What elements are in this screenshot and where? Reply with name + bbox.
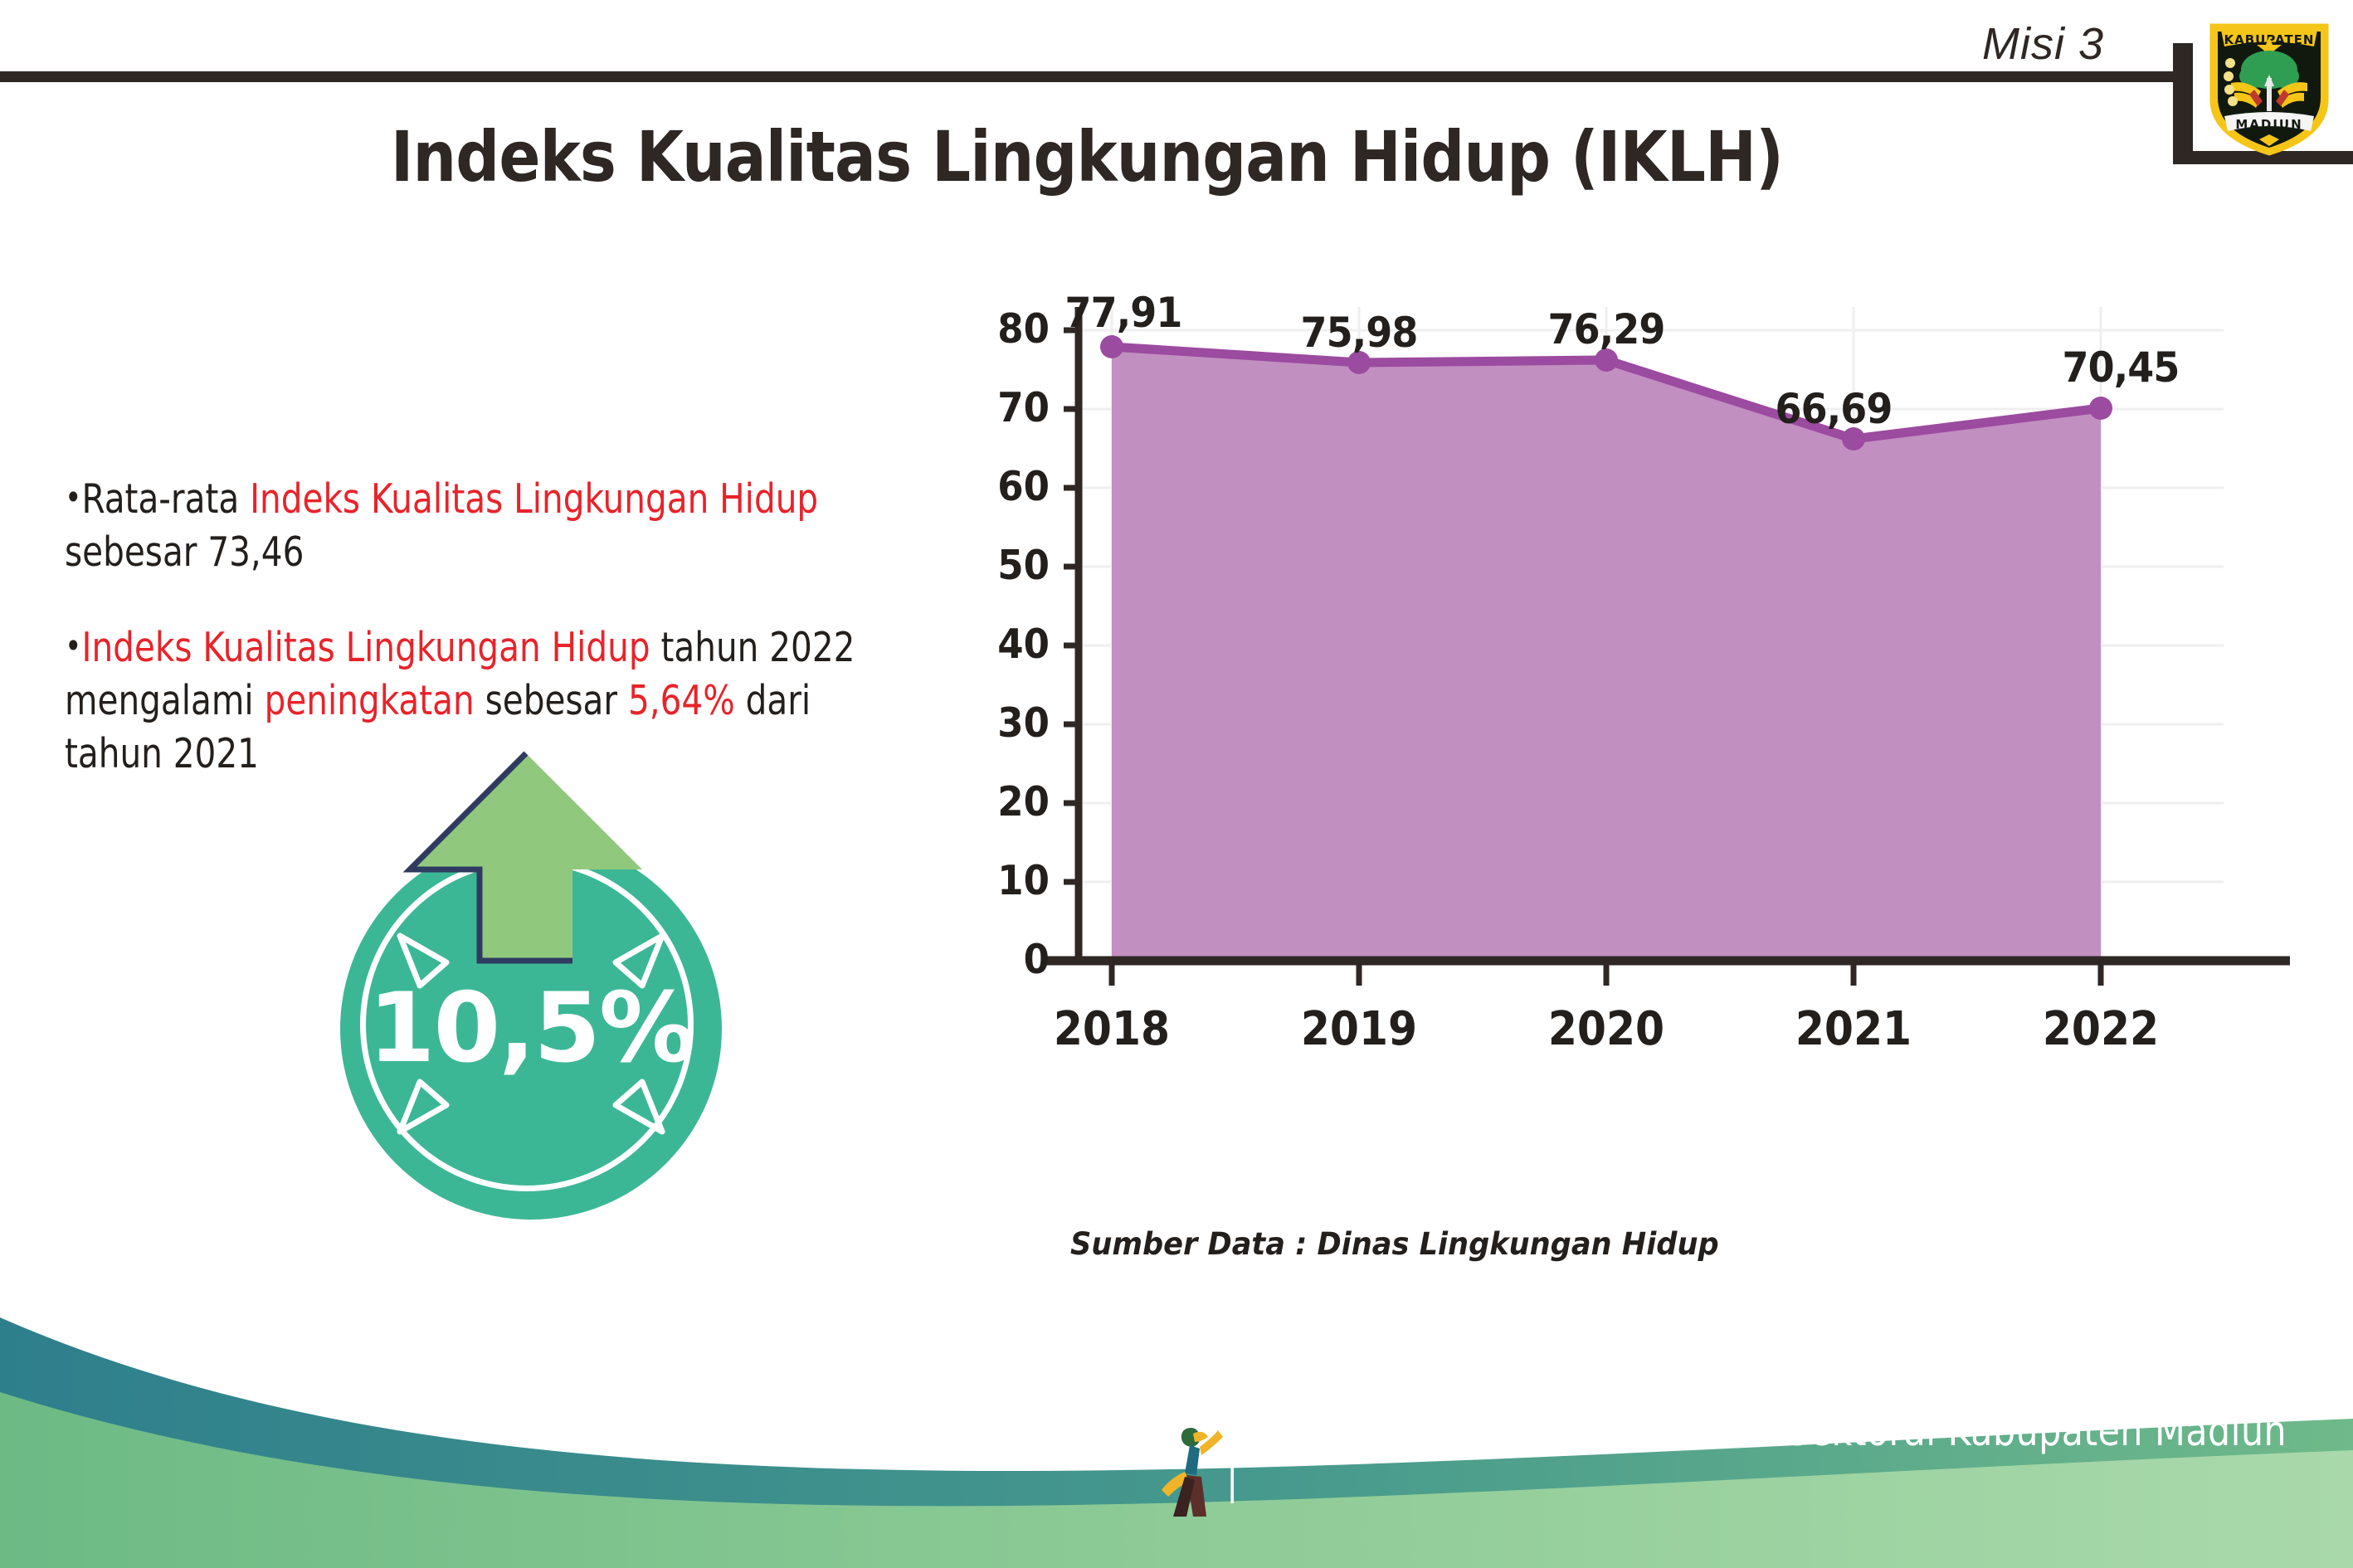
y-tick-label-70: 70 bbox=[958, 384, 1050, 431]
growth-badge: 10,5% bbox=[330, 747, 778, 1211]
x-tick-label-2018: 2018 bbox=[1037, 1002, 1186, 1056]
header-divider-rule bbox=[0, 71, 2180, 82]
emblem-bracket-vertical bbox=[2173, 43, 2193, 164]
chart-area-fill bbox=[1112, 347, 2101, 961]
bullet-1-part-3: sebesar bbox=[475, 677, 628, 724]
x-tick-label-2021: 2021 bbox=[1779, 1002, 1928, 1056]
bullet-dot-icon: • bbox=[65, 626, 82, 666]
bullet-dot-icon: • bbox=[65, 477, 82, 518]
up-arrow-icon bbox=[402, 747, 650, 996]
data-label-2021: 66,69 bbox=[1750, 385, 1917, 433]
y-tick-label-30: 30 bbox=[958, 699, 1050, 747]
y-tick-label-20: 20 bbox=[958, 778, 1050, 825]
data-label-2022: 70,45 bbox=[2037, 343, 2204, 392]
x-tick-label-2019: 2019 bbox=[1284, 1002, 1434, 1056]
bullet-0-part-1: Indeks Kualitas Lingkungan Hidup bbox=[250, 475, 818, 523]
svg-text:MADIUN: MADIUN bbox=[2235, 117, 2302, 132]
bullet-1-part-4: 5,64% bbox=[628, 677, 735, 724]
misi-label: Misi 3 bbox=[1982, 18, 2104, 70]
data-label-2020: 76,29 bbox=[1522, 305, 1690, 353]
y-tick-label-40: 40 bbox=[958, 621, 1050, 668]
y-tick-label-10: 10 bbox=[958, 857, 1050, 904]
y-tick-label-50: 50 bbox=[958, 542, 1050, 589]
y-tick-label-60: 60 bbox=[958, 463, 1050, 510]
y-tick-label-80: 80 bbox=[958, 305, 1050, 353]
bullet-0-part-2: sebesar 73,46 bbox=[65, 528, 304, 576]
x-tick-label-2020: 2020 bbox=[1532, 1002, 1681, 1056]
source-note: Sumber Data : Dinas Lingkungan Hidup bbox=[1070, 1226, 1719, 1262]
data-label-2019: 75,98 bbox=[1275, 309, 1443, 357]
y-tick-label-0: 0 bbox=[958, 936, 1050, 983]
x-tick-label-2022: 2022 bbox=[2026, 1002, 2175, 1056]
statistik-figure-logo-icon bbox=[1153, 1424, 1228, 1523]
data-label-2018: 77,91 bbox=[1040, 289, 1207, 337]
bullet-0-part-0: Rata-rata bbox=[82, 475, 251, 523]
kabupaten-madiun-emblem-icon: KABUPATEN MADIUN bbox=[2203, 10, 2336, 158]
bullet-1-part-0: Indeks Kualitas Lingkungan Hidup bbox=[82, 624, 650, 671]
bullet-1-part-2: peningkatan bbox=[265, 677, 475, 724]
footer-caption: Media Infografis Data Statistik Sektoral… bbox=[1226, 1407, 2297, 1503]
badge-percentage-value: 10,5% bbox=[340, 972, 722, 1084]
bullet-item-average: •Rata-rata Indeks Kualitas Lingkungan Hi… bbox=[65, 473, 874, 578]
page-title: Indeks Kualitas Lingkungan Hidup (IKLH) bbox=[130, 116, 2044, 197]
iklh-area-chart: 80 70 60 50 40 30 20 10 0 2018 2019 2020… bbox=[962, 299, 2290, 1186]
